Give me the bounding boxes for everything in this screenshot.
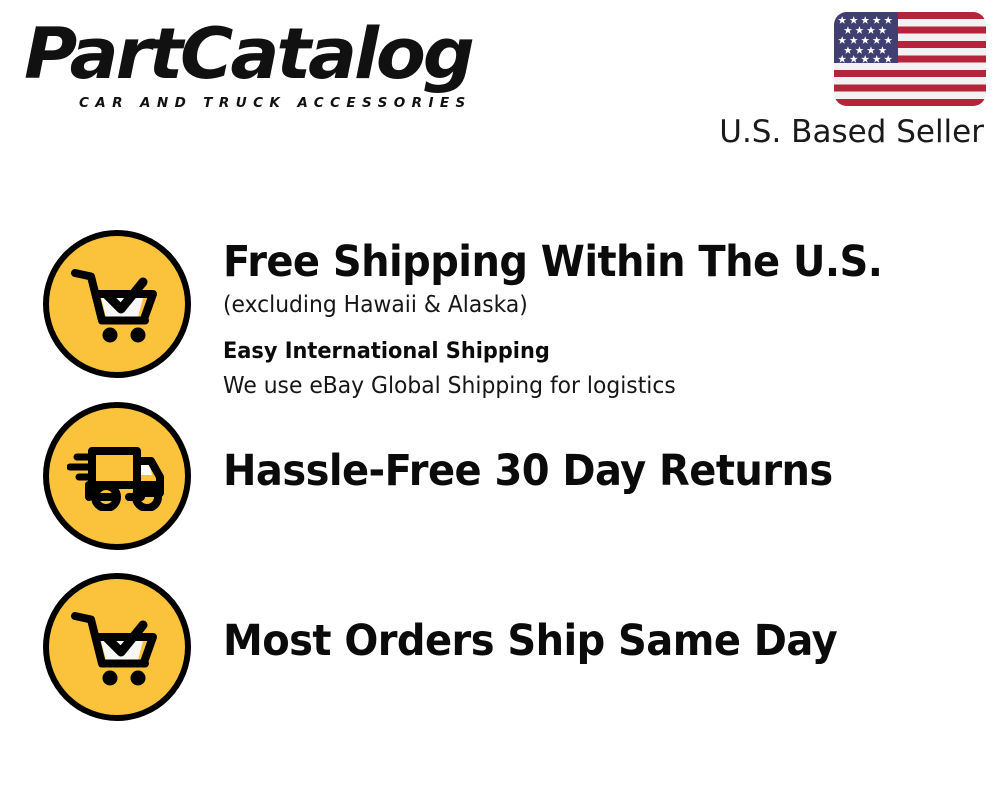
shopping-cart-check-icon <box>43 573 191 721</box>
benefit-headline: Hassle-Free 30 Day Returns <box>223 446 946 496</box>
benefit-text-block: Free Shipping Within The U.S. (excluding… <box>223 230 1000 403</box>
benefit-secondary-text: We use eBay Global Shipping for logistic… <box>223 370 961 403</box>
benefit-headline: Free Shipping Within The U.S. <box>223 237 946 287</box>
us-flag-icon <box>834 12 986 106</box>
benefit-row: Free Shipping Within The U.S. (excluding… <box>0 230 1000 403</box>
seller-badge: U.S. Based Seller <box>686 12 986 151</box>
seller-badge-label: U.S. Based Seller <box>686 113 984 151</box>
benefit-secondary-title: Easy International Shipping <box>223 336 961 368</box>
benefit-text-block: Hassle-Free 30 Day Returns <box>223 402 1000 496</box>
shopping-cart-check-icon <box>43 230 191 378</box>
brand-logo[interactable]: PartCatalog CAR AND TRUCK ACCESSORIES <box>24 18 494 114</box>
delivery-truck-icon <box>43 402 191 550</box>
benefit-row: Most Orders Ship Same Day <box>0 573 1000 721</box>
brand-tagline: CAR AND TRUCK ACCESSORIES <box>79 95 472 111</box>
brand-wordmark: PartCatalog <box>24 18 513 90</box>
benefit-text-block: Most Orders Ship Same Day <box>223 573 1000 666</box>
benefit-subline: (excluding Hawaii & Alaska) <box>223 289 961 322</box>
benefit-headline: Most Orders Ship Same Day <box>223 616 946 666</box>
benefit-row: Hassle-Free 30 Day Returns <box>0 402 1000 550</box>
flag-stars <box>834 12 898 63</box>
page-header: PartCatalog CAR AND TRUCK ACCESSORIES <box>0 0 1000 175</box>
